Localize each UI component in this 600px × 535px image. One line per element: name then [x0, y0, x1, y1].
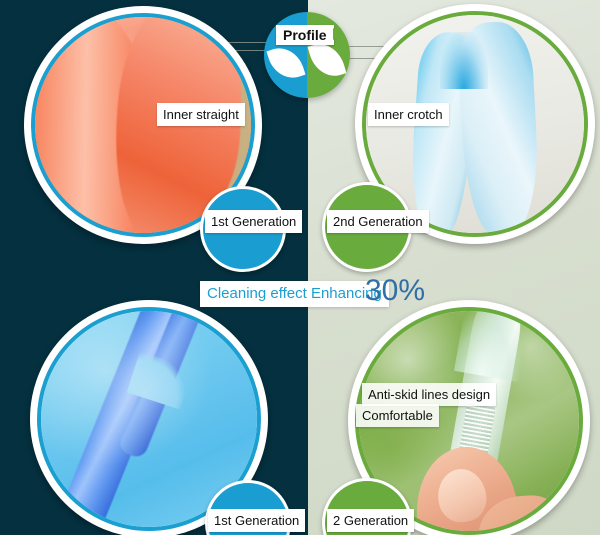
badge-label-bottom-left: 1st Generation — [208, 509, 305, 532]
banner-text: Cleaning effect Enhancing — [200, 281, 389, 307]
profile-arrow-icon — [333, 28, 342, 40]
badge-label-top-left: 1st Generation — [205, 210, 302, 233]
callout-top-right: Inner crotch — [368, 103, 449, 126]
banner-percent: 30% — [365, 275, 425, 307]
callout-top-left: Inner straight — [157, 103, 245, 126]
badge-label-top-right: 2nd Generation — [327, 210, 429, 233]
product-comparison-infographic: 1st Generation Inner straight 2nd Genera… — [0, 0, 600, 535]
badge-profile-label: Profile — [276, 25, 334, 45]
callout-bottom-right-secondary: Comfortable — [356, 404, 439, 427]
badge-label-bottom-right: 2 Generation — [327, 509, 414, 532]
callout-bottom-right-primary: Anti-skid lines design — [362, 383, 496, 406]
